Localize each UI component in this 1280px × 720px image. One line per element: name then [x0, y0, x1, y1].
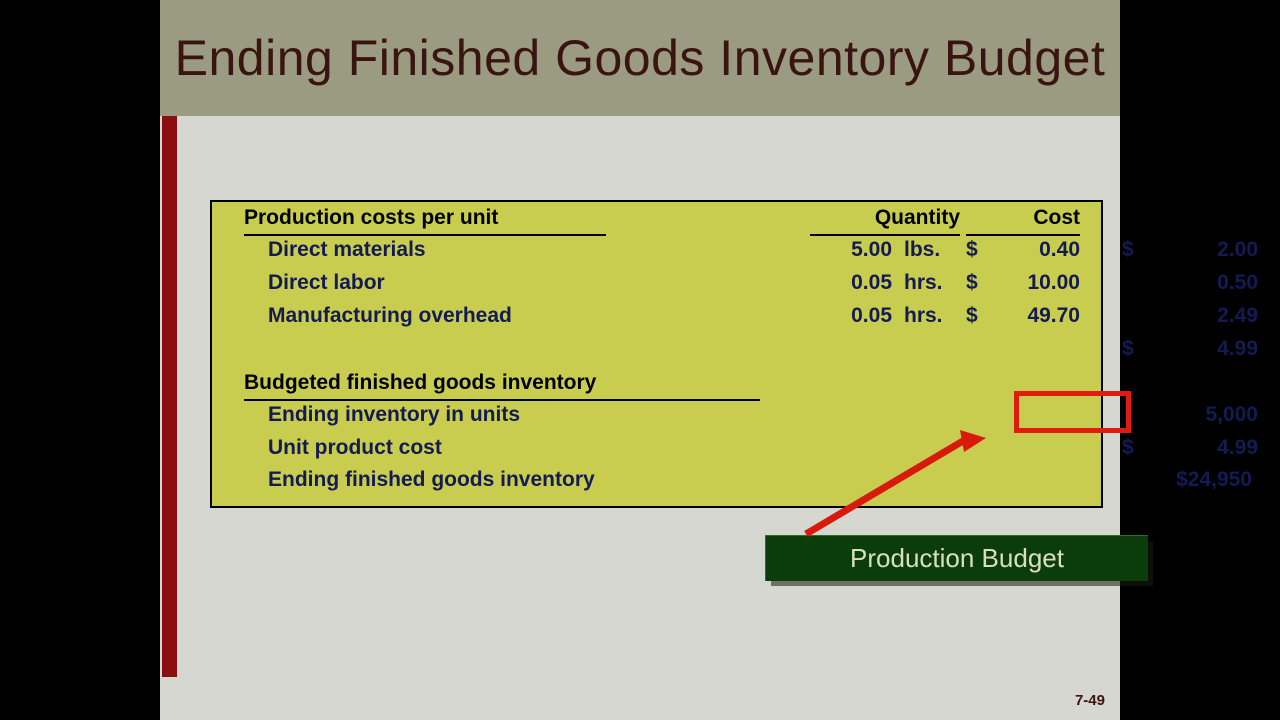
row-total: 0.50	[1142, 271, 1258, 295]
inventory-rule	[1122, 464, 1258, 466]
header-rule-quantity	[810, 234, 960, 236]
callout-label: Production Budget	[850, 543, 1064, 574]
row-quantity: 0.05	[802, 304, 892, 328]
column-header-quantity: Quantity	[802, 206, 960, 230]
subtotal-rule-top	[1122, 332, 1258, 334]
row-label: Ending finished goods inventory	[268, 468, 595, 492]
table-row: Direct materials 5.00 lbs. $ 0.40 $ 2.00	[212, 238, 1105, 271]
row-unit: hrs.	[904, 271, 960, 295]
table-row: Direct labor 0.05 hrs. $ 10.00 0.50	[212, 271, 1105, 304]
row-cost: 10.00	[984, 271, 1080, 295]
page-number: 7-49	[1075, 692, 1105, 709]
row-unit: hrs.	[904, 304, 960, 328]
budget-table: Production costs per unit Quantity Cost …	[210, 200, 1103, 508]
subtotal-rule-double-b	[1122, 371, 1258, 373]
table-row: Ending finished goods inventory $24,950	[212, 468, 1105, 501]
column-header-production-costs: Production costs per unit	[244, 206, 498, 230]
row-total-symbol: $	[1122, 436, 1142, 460]
row-total-symbol: $	[1122, 238, 1142, 262]
header-rule-label	[244, 234, 606, 236]
row-quantity: 0.05	[802, 271, 892, 295]
slide-canvas: Ending Finished Goods Inventory Budget P…	[160, 0, 1120, 720]
row-label: Ending inventory in units	[268, 403, 520, 427]
row-cost-symbol: $	[966, 271, 986, 295]
row-label: Manufacturing overhead	[268, 304, 512, 328]
row-cost-symbol: $	[966, 238, 986, 262]
unit-cost-total-row: $ 4.99	[212, 337, 1105, 370]
grand-total-rule-b	[1122, 501, 1258, 503]
page-title: Ending Finished Goods Inventory Budget	[160, 0, 1120, 116]
left-accent-bar	[162, 116, 177, 677]
production-budget-callout[interactable]: Production Budget	[765, 535, 1148, 581]
column-header-cost: Cost	[966, 206, 1080, 230]
row-total: 2.00	[1142, 238, 1258, 262]
row-quantity: 5.00	[802, 238, 892, 262]
title-band: Ending Finished Goods Inventory Budget	[160, 0, 1120, 116]
unit-cost-total-value: 4.99	[1142, 337, 1258, 361]
row-cost: 49.70	[984, 304, 1080, 328]
slide-stage: Ending Finished Goods Inventory Budget P…	[0, 0, 1280, 720]
row-cost-symbol: $	[966, 304, 986, 328]
unit-cost-total-symbol: $	[1122, 337, 1142, 361]
row-label: Direct materials	[268, 238, 426, 262]
ending-inventory-highlight-box	[1014, 391, 1131, 433]
header-rule-total	[1122, 234, 1258, 236]
row-label: Unit product cost	[268, 436, 442, 460]
row-unit: lbs.	[904, 238, 960, 262]
subtotal-rule-double-a	[1122, 366, 1258, 368]
grand-total-rule-a	[1122, 496, 1258, 498]
row-cost: 0.40	[984, 238, 1080, 262]
row-label: Direct labor	[268, 271, 385, 295]
table-row: Ending inventory in units 5,000	[212, 403, 1105, 436]
header-rule-cost	[966, 234, 1080, 236]
row-total: 4.99	[1142, 436, 1258, 460]
column-header-total: Total	[1122, 206, 1258, 230]
table-row: Unit product cost $ 4.99	[212, 436, 1105, 469]
table-row: Manufacturing overhead 0.05 hrs. $ 49.70…	[212, 304, 1105, 337]
row-total: 5,000	[1142, 403, 1258, 427]
section-header-budgeted-inventory: Budgeted finished goods inventory	[244, 371, 596, 395]
row-total: $24,950	[1136, 468, 1252, 492]
row-total: 2.49	[1142, 304, 1258, 328]
section-two-rule	[244, 399, 760, 401]
